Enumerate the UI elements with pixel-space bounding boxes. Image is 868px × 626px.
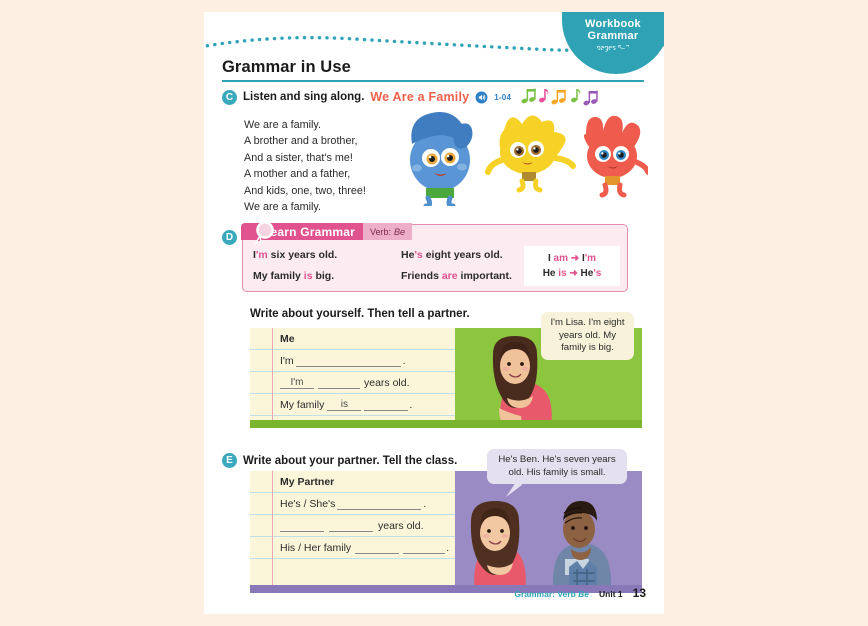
- footer-grammar-text: Grammar: Verb: [514, 589, 575, 599]
- ex-post: eight years old.: [423, 249, 503, 261]
- contraction-left: He: [543, 268, 559, 279]
- verb-label-text: Verb:: [370, 227, 391, 237]
- ex-post: six years old.: [268, 249, 337, 261]
- page-title-block: Grammar in Use: [222, 58, 644, 82]
- ex-hl: 'm: [256, 249, 268, 261]
- exercise-e-badge: E: [222, 453, 237, 468]
- arrow-icon: ➜: [571, 253, 579, 264]
- blank-field[interactable]: [296, 356, 401, 367]
- footer-grammar-label: Grammar: Verb Be: [514, 589, 589, 599]
- contraction-right-hl: 's: [593, 268, 601, 279]
- ex-hl: are: [442, 270, 458, 282]
- exercise-d-badge: D: [222, 230, 237, 245]
- ex-pre: Friends: [401, 270, 442, 282]
- line4-period: .: [446, 542, 449, 554]
- textbook-page: Workbook Grammar pages 6–7 Grammar in Us…: [204, 12, 664, 614]
- exercise-e-instruction: Write about your partner. Tell the class…: [243, 455, 457, 467]
- grammar-example: My family is big.: [253, 270, 401, 282]
- arrow-icon: ➜: [569, 268, 577, 279]
- line2-period: .: [403, 355, 406, 367]
- paper-margin-line: [272, 471, 273, 593]
- exercise-c-badge: C: [222, 90, 237, 105]
- exercise-e-header: E Write about your partner. Tell the cla…: [222, 453, 457, 468]
- blank-field[interactable]: [318, 378, 360, 389]
- blue-character: [410, 112, 476, 206]
- dotted-wave-decoration: [204, 32, 664, 58]
- filled-answer[interactable]: I'm: [280, 377, 314, 389]
- ex-pre: He: [401, 249, 414, 261]
- contraction-right-hl: 'm: [585, 253, 596, 264]
- footer-page-number: 13: [633, 586, 646, 600]
- blank-field[interactable]: [364, 400, 408, 411]
- line4-label: My family: [280, 399, 324, 411]
- verb-label-italic: Be: [394, 227, 405, 237]
- line2-label: I'm: [280, 355, 294, 367]
- line4-period: .: [409, 399, 412, 411]
- paper-margin-line: [272, 328, 273, 428]
- line2-period: .: [423, 498, 426, 510]
- speech-bubble-tail-ben: [504, 479, 530, 501]
- line2-label: He's / She's: [280, 498, 335, 510]
- worksheet-line-4: His / Her family .: [280, 537, 640, 559]
- blank-field[interactable]: [280, 521, 324, 532]
- grammar-examples: I'm six years old. He's eight years old.…: [253, 249, 553, 291]
- contraction-left-hl: am: [554, 253, 568, 264]
- verb-label: Verb: Be: [363, 223, 412, 240]
- ex-post: big.: [313, 270, 335, 282]
- learn-grammar-box: Learn Grammar Verb: Be I'm six years old…: [242, 224, 628, 292]
- filled-answer[interactable]: is: [327, 399, 361, 411]
- cartoon-characters: [400, 100, 648, 206]
- line4-label: His / Her family: [280, 542, 351, 554]
- magnifying-glass-icon: [253, 221, 277, 247]
- yellow-character: [488, 115, 573, 190]
- ex-hl: 's: [414, 249, 422, 261]
- page-title: Grammar in Use: [222, 58, 644, 77]
- ex-pre: My family: [253, 270, 304, 282]
- worksheet-bottom-strip: [250, 420, 642, 428]
- page-footer: Grammar: Verb Be Unit 1 13: [514, 586, 646, 600]
- contraction-row: I am ➜ I'm: [548, 253, 596, 264]
- line3-label: years old.: [364, 377, 410, 389]
- blank-field[interactable]: [329, 521, 373, 532]
- exercise-d-sub-instruction: Write about yourself. Then tell a partne…: [250, 308, 470, 320]
- contraction-right: He: [581, 268, 594, 279]
- title-underline: [222, 80, 644, 82]
- exercise-c-instruction: Listen and sing along.: [243, 91, 364, 103]
- contraction-left-hl: is: [558, 268, 566, 279]
- ex-post: important.: [458, 270, 512, 282]
- worksheet-line-3: I'm years old.: [280, 372, 640, 394]
- worksheet-line-3: years old.: [280, 515, 640, 537]
- speech-bubble-tail-lisa: [544, 342, 568, 360]
- contraction-box: I am ➜ I'm He is ➜ He's: [524, 246, 620, 286]
- blank-field[interactable]: [403, 543, 445, 554]
- line3-label: years old.: [378, 520, 424, 532]
- ex-hl: is: [304, 270, 313, 282]
- blank-field[interactable]: [337, 499, 421, 510]
- corner-tab-line1: Workbook: [570, 18, 656, 30]
- blank-field[interactable]: [355, 543, 399, 554]
- contraction-row: He is ➜ He's: [543, 268, 602, 279]
- footer-grammar-italic: Be: [578, 589, 589, 599]
- grammar-example: I'm six years old.: [253, 249, 401, 261]
- red-character: [584, 116, 648, 195]
- worksheet-partner-text: My Partner He's / She's . years old. His…: [280, 471, 640, 559]
- footer-unit: Unit 1: [599, 589, 623, 599]
- worksheet-my-partner[interactable]: My Partner He's / She's . years old. His…: [250, 471, 642, 593]
- exercise-c: C Listen and sing along. We Are a Family…: [222, 86, 646, 215]
- worksheet-line-2: He's / She's .: [280, 493, 640, 515]
- worksheet-line-4: My family is .: [280, 394, 640, 416]
